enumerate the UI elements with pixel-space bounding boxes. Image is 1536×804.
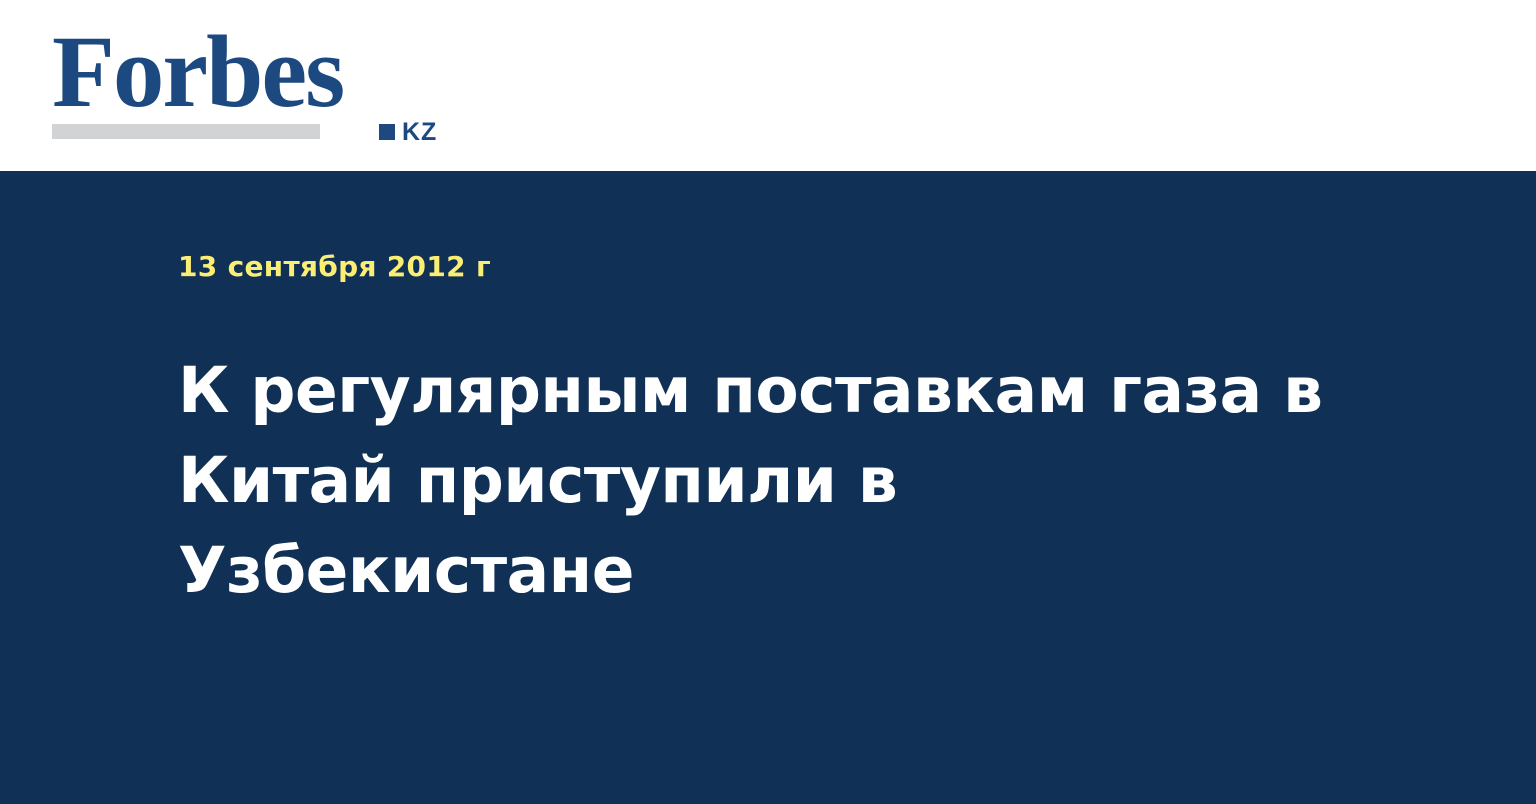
article-publish-date: 13 сентября 2012 г — [178, 250, 491, 284]
site-header: Forbes KZ — [0, 0, 1536, 171]
logo-country-code: KZ — [402, 120, 437, 145]
article-hero: 13 сентября 2012 г К регулярным поставка… — [0, 171, 1536, 804]
article-headline: К регулярным поставкам газа в Китай прис… — [178, 346, 1338, 616]
forbes-kz-logo[interactable]: Forbes KZ — [52, 20, 412, 145]
article-page: Forbes KZ 13 сентября 2012 г К регулярны… — [0, 0, 1536, 804]
logo-underline-rule — [52, 124, 320, 139]
kz-square-icon — [379, 124, 395, 140]
forbes-wordmark: Forbes — [52, 20, 343, 124]
